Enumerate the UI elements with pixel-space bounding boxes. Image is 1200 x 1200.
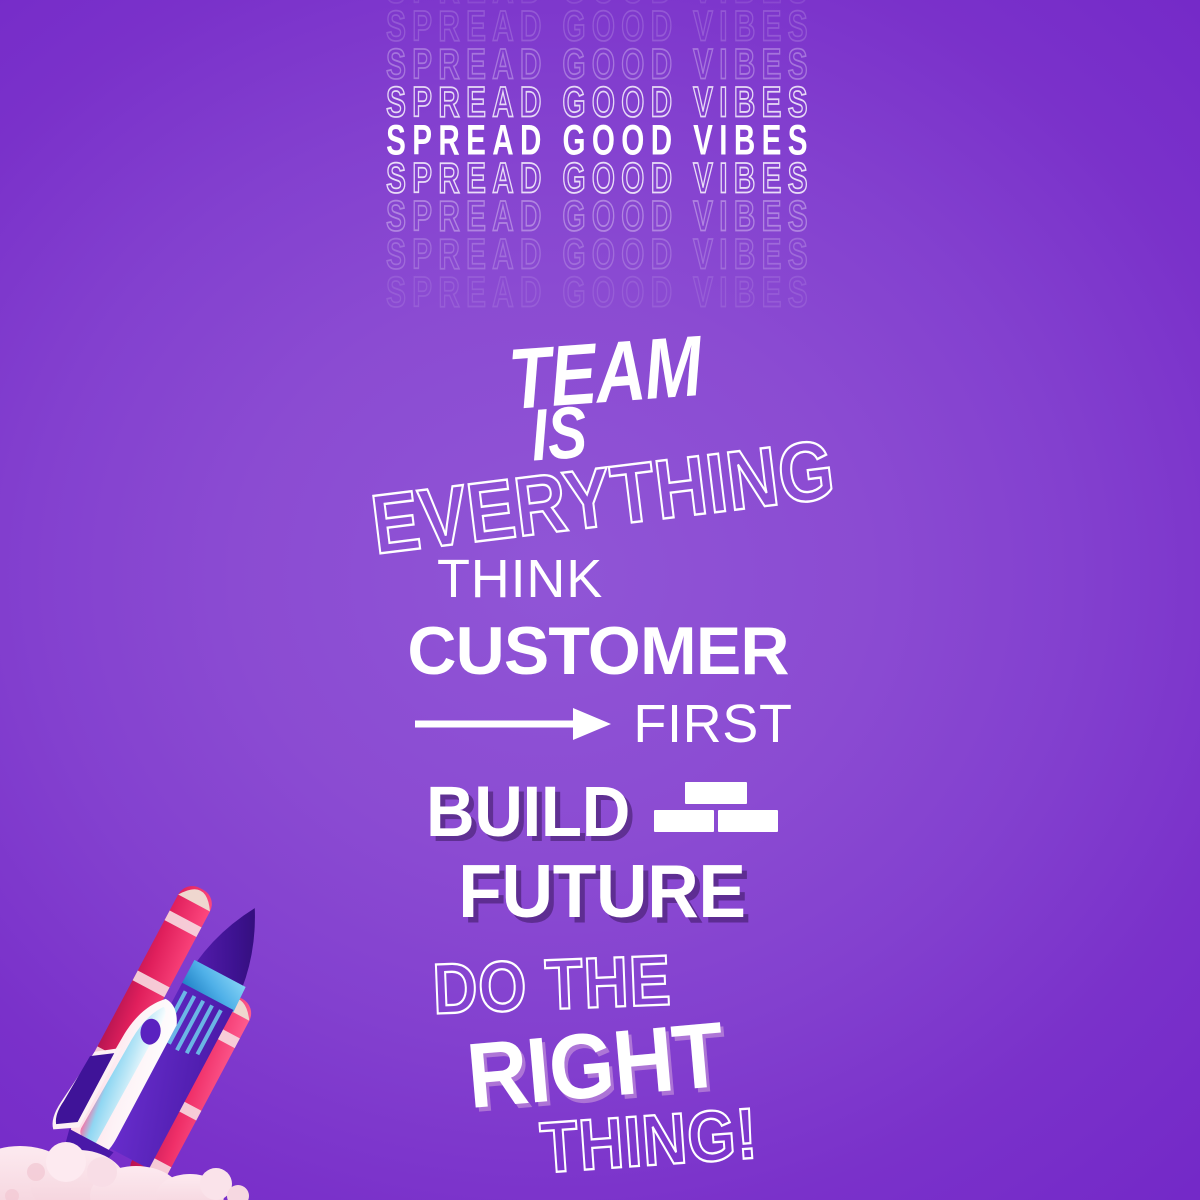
- slogan-team-is-everything: TEAM IS EVERYTHING: [0, 336, 1200, 532]
- slogan-do-the-right-thing: DO THE RIGHT THING!: [0, 955, 1200, 1173]
- marquee-row: SPREAD GOOD VIBES: [132, 158, 1068, 201]
- slogan-line-think: THINK: [0, 552, 1200, 606]
- marquee-row-highlight: SPREAD GOOD VIBES: [132, 120, 1068, 163]
- marquee-row: SPREAD GOOD VIBES: [132, 196, 1068, 239]
- slogan-line-build: BUILD: [426, 775, 630, 846]
- slogan-think-customer-first: THINK CUSTOMER FIRST: [0, 552, 1200, 751]
- marquee-row: SPREAD GOOD VIBES: [132, 234, 1068, 277]
- slogan-line-first-row: FIRST: [8, 697, 1200, 751]
- marquee-row: SPREAD GOOD VIBES: [132, 44, 1068, 87]
- marquee-headline-stack: SPREAD GOOD VIBES SPREAD GOOD VIBES SPRE…: [0, 0, 1200, 350]
- slogan-line-future: FUTURE: [0, 853, 1200, 929]
- slogan-build-future: BUILD FUTURE: [0, 778, 1200, 926]
- poster-canvas: SPREAD GOOD VIBES SPREAD GOOD VIBES SPRE…: [0, 0, 1200, 1200]
- marquee-row: SPREAD GOOD VIBES: [132, 0, 1068, 10]
- slogan-line-customer: CUSTOMER: [0, 617, 1200, 685]
- slogan-line-first: FIRST: [633, 697, 792, 751]
- marquee-row: SPREAD GOOD VIBES: [132, 6, 1068, 49]
- marquee-row: SPREAD GOOD VIBES: [132, 82, 1068, 125]
- arrow-right-icon: [415, 704, 611, 744]
- bricks-icon: [654, 780, 778, 842]
- slogan-line-build-row: BUILD: [6, 778, 1200, 844]
